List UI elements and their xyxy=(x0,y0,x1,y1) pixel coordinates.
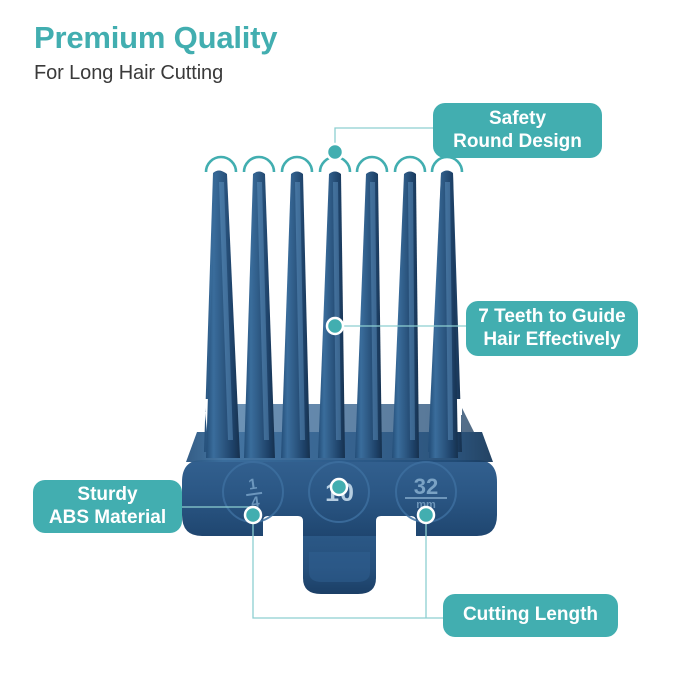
marking-center-label: 10 xyxy=(319,479,361,507)
callout-safety-line1: Safety xyxy=(489,108,546,130)
callout-sturdy-abs-material[interactable]: Sturdy ABS Material xyxy=(33,480,182,533)
infographic-canvas: 1 4 10 32 mm xyxy=(0,0,679,679)
callout-sturdy-line1: Sturdy xyxy=(77,484,137,506)
callout-teeth-line1: 7 Teeth to Guide xyxy=(478,306,625,328)
callout-seven-teeth[interactable]: 7 Teeth to Guide Hair Effectively xyxy=(466,301,638,356)
callout-cutting-length[interactable]: Cutting Length xyxy=(443,594,618,637)
callout-safety-round-design[interactable]: Safety Round Design xyxy=(433,103,602,158)
marking-left-label: 1 4 xyxy=(234,476,274,511)
marking-right-number: 32 xyxy=(405,474,447,498)
callout-safety-line2: Round Design xyxy=(453,131,582,153)
marking-right-unit: mm xyxy=(405,497,447,513)
callout-sturdy-line2: ABS Material xyxy=(49,507,166,529)
callout-length-line1: Cutting Length xyxy=(463,604,598,626)
callout-teeth-line2: Hair Effectively xyxy=(483,329,620,351)
